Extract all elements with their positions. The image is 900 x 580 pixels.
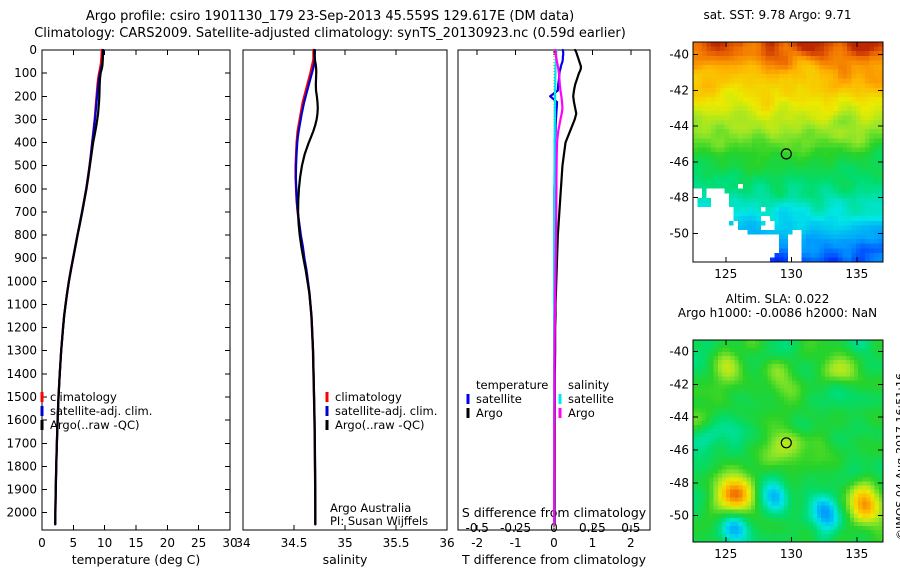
- x-tick-label-top: 0.25: [579, 521, 606, 535]
- map-cell: [829, 384, 834, 389]
- map-cell: [805, 510, 810, 515]
- map-cell: [738, 344, 743, 349]
- map-cell-nodata: [743, 248, 748, 253]
- map-cell: [763, 489, 768, 494]
- map-cell: [860, 157, 865, 162]
- map-cell: [805, 473, 810, 478]
- map-cell: [729, 152, 734, 157]
- map-cell: [738, 207, 743, 212]
- map-cell: [771, 388, 776, 393]
- map-cell: [847, 193, 852, 198]
- map-cell: [860, 239, 865, 244]
- map-cell: [805, 401, 810, 406]
- map-cell: [824, 147, 829, 152]
- map-cell: [725, 88, 730, 93]
- map-cell: [716, 42, 721, 47]
- map-cell: [866, 384, 871, 389]
- map-cell: [767, 409, 772, 414]
- map-cell: [771, 372, 776, 377]
- map-cell: [722, 494, 727, 499]
- map-cell: [725, 106, 730, 111]
- map-cell: [842, 401, 847, 406]
- map-cell-nodata: [765, 221, 770, 226]
- map-cell: [862, 344, 867, 349]
- map-cell: [698, 102, 703, 107]
- map-cell: [815, 180, 820, 185]
- map-cell: [793, 216, 798, 221]
- map-cell-nodata: [716, 248, 721, 253]
- map-cell: [842, 489, 847, 494]
- map-cell: [793, 102, 798, 107]
- map-cell: [705, 465, 710, 470]
- map-cell: [780, 421, 785, 426]
- map-cell: [817, 485, 822, 490]
- map-cell: [829, 56, 834, 61]
- map-cell: [726, 526, 731, 531]
- map-cell: [817, 510, 822, 515]
- map-cell: [755, 393, 760, 398]
- map-cell-nodata: [729, 207, 734, 212]
- map-cell: [788, 449, 793, 454]
- map-cell-nodata: [711, 221, 716, 226]
- map-cell: [761, 180, 766, 185]
- map-cell: [788, 417, 793, 422]
- map-cell: [765, 180, 770, 185]
- map-cell-nodata: [716, 235, 721, 240]
- map-cell: [752, 152, 757, 157]
- map-cell: [842, 202, 847, 207]
- map-cell: [720, 170, 725, 175]
- map-cell: [869, 42, 874, 47]
- map-cell: [796, 449, 801, 454]
- map-cell: [788, 129, 793, 134]
- map-cell: [813, 413, 818, 418]
- map-cell: [806, 56, 811, 61]
- map-cell: [767, 506, 772, 511]
- map-cell: [851, 184, 856, 189]
- map-cell: [707, 125, 712, 130]
- map-cell: [780, 502, 785, 507]
- map-cell: [738, 417, 743, 422]
- map-cell-nodata: [693, 239, 698, 244]
- map-cell: [714, 457, 719, 462]
- map-cell: [779, 253, 784, 258]
- map-cell: [774, 134, 779, 139]
- map-cell: [747, 92, 752, 97]
- map-cell: [767, 364, 772, 369]
- map-cell: [813, 340, 818, 345]
- map-cell: [722, 473, 727, 478]
- map-cell: [720, 138, 725, 143]
- map-cell: [718, 534, 723, 539]
- map-cell: [842, 138, 847, 143]
- map-cell: [776, 421, 781, 426]
- map-cell: [774, 212, 779, 217]
- map-cell: [771, 465, 776, 470]
- map-cell: [829, 441, 834, 446]
- map-cell: [759, 405, 764, 410]
- map-cell: [698, 175, 703, 180]
- map-cell: [813, 376, 818, 381]
- sst-map[interactable]: 125130135-40-42-44-46-48-50: [655, 22, 900, 287]
- map-cell: [697, 384, 702, 389]
- map-cell: [718, 388, 723, 393]
- map-cell: [711, 170, 716, 175]
- map-cell: [793, 92, 798, 97]
- map-cell: [842, 485, 847, 490]
- map-cell: [858, 393, 863, 398]
- map-cell: [751, 388, 756, 393]
- map-cell: [829, 445, 834, 450]
- map-cell: [866, 498, 871, 503]
- map-cell: [783, 60, 788, 65]
- map-cell: [752, 111, 757, 116]
- map-cell: [734, 102, 739, 107]
- map-cell: [693, 393, 698, 398]
- map-cell: [761, 170, 766, 175]
- map-cell: [869, 111, 874, 116]
- map-cell: [701, 433, 706, 438]
- map-cell: [800, 518, 805, 523]
- map-cell: [710, 494, 715, 499]
- map-cell: [825, 449, 830, 454]
- map-cell: [705, 405, 710, 410]
- map-cell: [850, 457, 855, 462]
- map-cell: [869, 65, 874, 70]
- map-cell: [829, 506, 834, 511]
- map-cell: [866, 372, 871, 377]
- map-cell: [811, 120, 816, 125]
- map-cell: [711, 120, 716, 125]
- map-cell: [817, 409, 822, 414]
- map-cell: [720, 111, 725, 116]
- map-cell: [770, 161, 775, 166]
- map-cell: [765, 166, 770, 171]
- map-cell: [820, 184, 825, 189]
- map-cell: [711, 51, 716, 56]
- map-cell-nodata: [707, 216, 712, 221]
- map-cell: [747, 143, 752, 148]
- map-cell: [784, 489, 789, 494]
- map-cell: [751, 376, 756, 381]
- map-cell: [866, 413, 871, 418]
- map-cell: [722, 502, 727, 507]
- map-cell: [780, 498, 785, 503]
- map-cell: [817, 514, 822, 519]
- map-cell: [702, 129, 707, 134]
- map-cell: [805, 368, 810, 373]
- map-cell: [784, 380, 789, 385]
- map-cell: [865, 230, 870, 235]
- map-cell: [829, 70, 834, 75]
- map-cell: [707, 157, 712, 162]
- map-cell: [734, 70, 739, 75]
- map-cell: [743, 453, 748, 458]
- map-cell: [797, 216, 802, 221]
- map-cell: [767, 534, 772, 539]
- map-cell: [811, 152, 816, 157]
- map-cell: [821, 465, 826, 470]
- map-cell: [752, 216, 757, 221]
- map-cell: [851, 65, 856, 70]
- map-cell-nodata: [711, 239, 716, 244]
- map-cell: [747, 421, 752, 426]
- map-cell: [871, 380, 876, 385]
- map-cell: [817, 364, 822, 369]
- map-cell: [820, 253, 825, 258]
- map-cell: [874, 152, 879, 157]
- map-cell: [730, 494, 735, 499]
- map-cell: [702, 193, 707, 198]
- map-cell: [747, 445, 752, 450]
- map-cell: [751, 340, 756, 345]
- map-cell: [788, 433, 793, 438]
- map-cell: [767, 489, 772, 494]
- map-cell: [697, 502, 702, 507]
- map-cell: [869, 56, 874, 61]
- map-cell: [833, 461, 838, 466]
- sla-map[interactable]: 125130135-40-42-44-46-48-50: [655, 320, 900, 568]
- map-cell: [718, 380, 723, 385]
- map-cell: [842, 506, 847, 511]
- map-cell: [743, 102, 748, 107]
- difference-panel: -2-1012T difference from climatology-0.5…: [450, 40, 665, 580]
- map-cell: [759, 506, 764, 511]
- map-cell: [738, 405, 743, 410]
- map-cell-nodata: [720, 221, 725, 226]
- map-cell: [747, 352, 752, 357]
- map-cell: [752, 125, 757, 130]
- map-cell: [829, 489, 834, 494]
- map-cell: [756, 138, 761, 143]
- map-cell: [846, 364, 851, 369]
- map-cell: [806, 225, 811, 230]
- map-cell: [821, 401, 826, 406]
- map-cell: [743, 417, 748, 422]
- map-cell: [833, 348, 838, 353]
- map-cell: [784, 397, 789, 402]
- map-cell: [756, 115, 761, 120]
- map-cell: [743, 429, 748, 434]
- map-cell: [716, 125, 721, 130]
- map-cell: [842, 502, 847, 507]
- map-cell: [796, 384, 801, 389]
- map-cell: [829, 364, 834, 369]
- map-cell: [806, 97, 811, 102]
- map-cell: [720, 115, 725, 120]
- map-cell-nodata: [716, 221, 721, 226]
- map-cell: [838, 364, 843, 369]
- map-cell: [734, 534, 739, 539]
- map-cell-nodata: [747, 239, 752, 244]
- map-cell: [851, 170, 856, 175]
- map-cell: [710, 401, 715, 406]
- map-cell: [788, 502, 793, 507]
- map-cell: [710, 344, 715, 349]
- map-cell: [862, 526, 867, 531]
- map-cell: [771, 380, 776, 385]
- map-cell: [705, 514, 710, 519]
- map-cell-nodata: [702, 235, 707, 240]
- map-cell-nodata: [716, 225, 721, 230]
- map-cell: [693, 518, 698, 523]
- map-cell-nodata: [693, 244, 698, 249]
- map-cell: [838, 42, 843, 47]
- map-cell: [813, 514, 818, 519]
- map-cell: [730, 469, 735, 474]
- x-axis-label: temperature (deg C): [72, 552, 201, 567]
- map-cell: [838, 526, 843, 531]
- map-cell-nodata: [756, 239, 761, 244]
- map-cell-nodata: [720, 198, 725, 203]
- map-cell: [738, 193, 743, 198]
- map-cell: [751, 413, 756, 418]
- map-cell: [793, 42, 798, 47]
- map-cell: [729, 138, 734, 143]
- map-cell: [838, 473, 843, 478]
- map-cell: [711, 47, 716, 52]
- map-cell: [860, 152, 865, 157]
- map-cell: [820, 152, 825, 157]
- map-cell: [693, 457, 698, 462]
- map-cell: [788, 348, 793, 353]
- map-cell: [811, 225, 816, 230]
- map-cell: [779, 88, 784, 93]
- map-cell: [738, 65, 743, 70]
- map-cell: [711, 138, 716, 143]
- map-cell: [763, 477, 768, 482]
- map-cell: [815, 111, 820, 116]
- map-cell: [858, 445, 863, 450]
- map-cell: [783, 115, 788, 120]
- map-cell: [752, 115, 757, 120]
- map-cell: [824, 184, 829, 189]
- map-cell: [693, 530, 698, 535]
- map-cell: [788, 340, 793, 345]
- map-cell: [829, 526, 834, 531]
- map-cell: [871, 445, 876, 450]
- map-cell: [842, 79, 847, 84]
- map-cell: [800, 421, 805, 426]
- map-cell: [693, 441, 698, 446]
- map-cell-nodata: [729, 216, 734, 221]
- map-cell: [842, 372, 847, 377]
- difference-plot[interactable]: -2-1012T difference from climatology-0.5…: [450, 40, 665, 580]
- map-cell: [779, 235, 784, 240]
- map-cell: [718, 502, 723, 507]
- map-cell-nodata: [693, 207, 698, 212]
- map-cell: [722, 453, 727, 458]
- map-cell-nodata: [707, 212, 712, 217]
- map-cell: [751, 409, 756, 414]
- map-cell: [793, 56, 798, 61]
- map-cell: [765, 193, 770, 198]
- map-cell: [755, 514, 760, 519]
- map-cell: [770, 79, 775, 84]
- map-cell: [729, 120, 734, 125]
- map-cell: [860, 56, 865, 61]
- temperature-plot[interactable]: 0100200300400500600700800900100011001200…: [0, 40, 240, 580]
- map-cell: [747, 344, 752, 349]
- salinity-plot[interactable]: 3434.53535.536salinityclimatologysatelli…: [235, 40, 460, 580]
- map-cell-nodata: [729, 230, 734, 235]
- map-cell: [800, 380, 805, 385]
- map-cell: [752, 207, 757, 212]
- map-cell-nodata: [725, 198, 730, 203]
- map-cell: [793, 202, 798, 207]
- map-cell: [833, 441, 838, 446]
- map-cell: [774, 51, 779, 56]
- map-cell: [815, 170, 820, 175]
- map-cell: [767, 473, 772, 478]
- map-cell: [847, 51, 852, 56]
- map-cell: [815, 235, 820, 240]
- map-cell: [815, 189, 820, 194]
- map-cell: [860, 70, 865, 75]
- map-cell: [743, 79, 748, 84]
- map-cell: [780, 380, 785, 385]
- map-cell: [707, 198, 712, 203]
- map-cell: [833, 166, 838, 171]
- map-cell: [851, 248, 856, 253]
- map-cell: [797, 129, 802, 134]
- map-cell: [805, 461, 810, 466]
- map-cell: [847, 115, 852, 120]
- map-cell: [875, 384, 880, 389]
- map-cell: [829, 88, 834, 93]
- map-cell: [770, 106, 775, 111]
- map-cell: [817, 372, 822, 377]
- map-cell: [866, 481, 871, 486]
- map-cell: [842, 166, 847, 171]
- map-cell: [701, 417, 706, 422]
- map-cell: [860, 248, 865, 253]
- map-cell: [821, 477, 826, 482]
- map-cell: [783, 225, 788, 230]
- map-cell: [871, 368, 876, 373]
- map-cell: [720, 88, 725, 93]
- map-cell: [705, 445, 710, 450]
- map-cell: [788, 115, 793, 120]
- map-cell: [765, 42, 770, 47]
- map-cell: [850, 380, 855, 385]
- map-cell: [802, 120, 807, 125]
- map-cell: [871, 518, 876, 523]
- map-cell: [714, 409, 719, 414]
- map-cell: [693, 47, 698, 52]
- map-cell: [726, 401, 731, 406]
- map-cell: [693, 397, 698, 402]
- map-cell: [817, 384, 822, 389]
- map-cell: [862, 409, 867, 414]
- map-cell: [716, 92, 721, 97]
- map-cell: [771, 473, 776, 478]
- map-cell: [747, 477, 752, 482]
- map-cell: [776, 502, 781, 507]
- map-cell: [833, 239, 838, 244]
- map-cell: [705, 510, 710, 515]
- map-cell: [817, 380, 822, 385]
- map-cell: [871, 481, 876, 486]
- map-cell: [788, 514, 793, 519]
- map-cell: [755, 449, 760, 454]
- map-cell: [838, 147, 843, 152]
- map-cell: [793, 106, 798, 111]
- map-cell: [842, 417, 847, 422]
- map-cell: [833, 498, 838, 503]
- map-cell: [800, 453, 805, 458]
- map-cell: [874, 235, 879, 240]
